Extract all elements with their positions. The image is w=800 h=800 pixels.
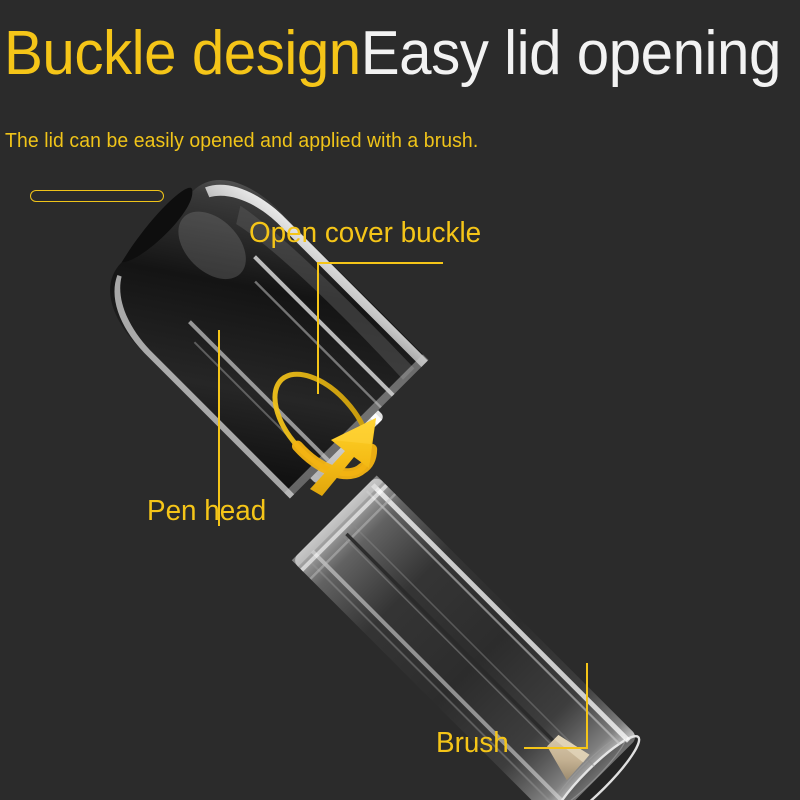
product-infographic: Buckle designEasy lid opening The lid ca…	[0, 0, 800, 800]
callout-label-brush: Brush	[436, 729, 509, 758]
page-subtitle: The lid can be easily opened and applied…	[5, 130, 478, 153]
open-direction-arrow	[310, 418, 376, 496]
product-illustration	[0, 0, 800, 800]
title-accent-text: Buckle design	[4, 19, 361, 88]
callout-label-pen-head: Pen head	[147, 497, 266, 526]
leader-line-open-cover-horizontal	[317, 262, 443, 264]
leader-line-brush-vertical	[586, 663, 588, 749]
leader-line-open-cover-vertical	[317, 262, 319, 394]
leader-line-brush-horizontal	[524, 747, 588, 749]
page-title: Buckle designEasy lid opening	[4, 23, 781, 85]
rotation-ring-indicator	[257, 357, 387, 491]
accent-pill-divider	[30, 190, 164, 202]
callout-label-open-cover-buckle: Open cover buckle	[249, 219, 481, 248]
pen-head-part	[139, 239, 385, 485]
title-main-text: Easy lid opening	[361, 19, 781, 88]
pen-cap	[81, 151, 428, 498]
